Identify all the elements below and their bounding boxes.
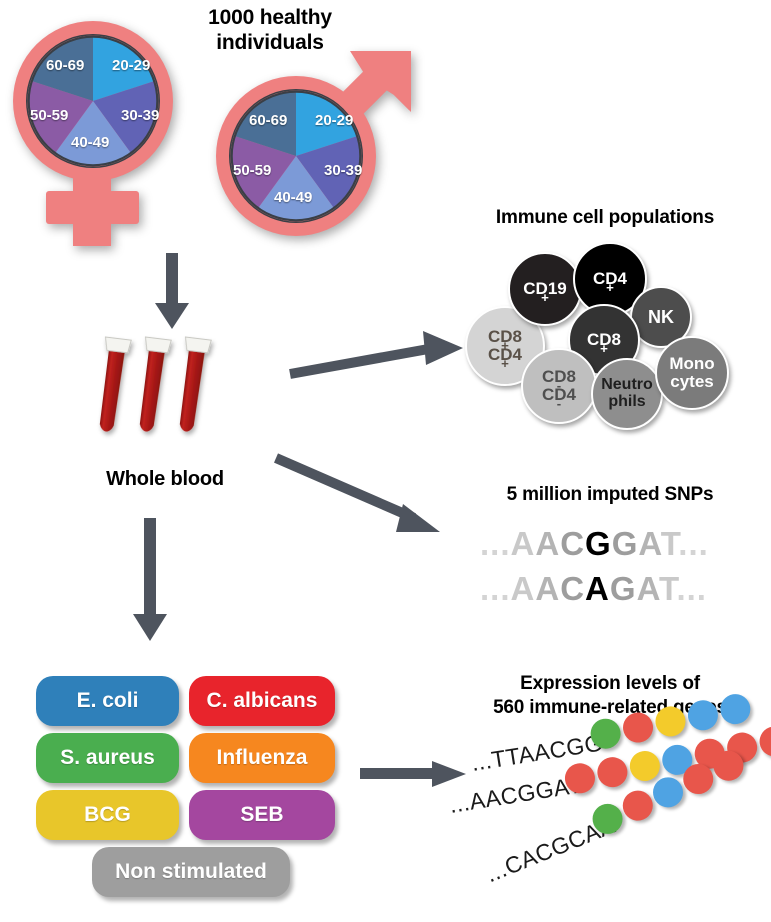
snp2-left-c: C [560, 570, 585, 607]
immune-cell-cd19pos: CD19+ [508, 252, 582, 326]
arrow-blood-to-stimulations [130, 518, 170, 643]
expression-strand-1-bead-4 [686, 698, 720, 732]
stimulation-non-stimulated[interactable]: Non stimulated [92, 847, 290, 897]
snp1-prefix: ... [480, 525, 511, 562]
snp-sequences: ...AACGGAT... ...AACAGAT... [480, 525, 740, 615]
snp2-suffix: ... [676, 570, 707, 607]
stimulation-e-coli[interactable]: E. coli [36, 676, 179, 726]
snp1-left-a: A [511, 525, 536, 562]
cd8pos-cd4pos-line2: CD4+ [488, 346, 522, 364]
neutrophils-line1: Neutro [601, 377, 653, 394]
expression-strands: ...TTAACGG ...AACGGAT ...CACGCAA [450, 730, 771, 915]
immune-cell-cluster: CD8+ CD4+ CD19+ CD4+ NK CD8+ CD8- CD4- [455, 240, 755, 420]
female-crossbar [46, 191, 139, 224]
section-title-snps: 5 million imputed SNPs [460, 484, 760, 506]
immune-cell-neutrophils: Neutro phils [591, 358, 663, 430]
label-whole-blood: Whole blood [75, 468, 255, 492]
male-pie-label-30-39: 30-39 [324, 162, 362, 179]
female-pie-label-50-59: 50-59 [30, 107, 68, 124]
neutrophils-line2: phils [601, 394, 653, 411]
whole-blood-tubes [95, 330, 275, 465]
snp-sequence-row-1: ...AACGGAT... [480, 525, 709, 563]
female-pie-label-40-49: 40-49 [71, 134, 109, 151]
stimulation-c-albicans[interactable]: C. albicans [189, 676, 335, 726]
blood-tube-2 [134, 337, 171, 433]
female-symbol: 20-29 30-39 40-49 50-59 60-69 [8, 16, 193, 246]
snp2-right-b: A [637, 570, 659, 607]
expression-strand-1-bead-5 [718, 692, 752, 726]
stimulation-bcg-label: BCG [84, 803, 131, 827]
snp2-left-a: A [511, 570, 536, 607]
stimulation-s-aureus[interactable]: S. aureus [36, 733, 179, 783]
snp-sequence-row-2: ...AACAGAT... [480, 570, 707, 608]
expression-strand-3-bead-2 [618, 786, 657, 825]
arrow-blood-to-snps [272, 432, 462, 542]
stimulation-e-coli-label: E. coli [77, 689, 139, 713]
arrow-blood-to-immune [288, 325, 468, 385]
expression-strand-2-bead-2 [595, 755, 629, 789]
stimulation-seb-label: SEB [240, 803, 283, 827]
stimulation-non-stimulated-label: Non stimulated [115, 860, 267, 884]
stimulation-influenza-label: Influenza [216, 746, 307, 770]
cd8neg-cd4neg-line2: CD4- [542, 386, 576, 404]
stimulation-s-aureus-label: S. aureus [60, 746, 155, 770]
expression-strand-1-bead-3 [653, 704, 687, 738]
female-pie-label-30-39: 30-39 [121, 107, 159, 124]
blood-tubes-svg [95, 330, 275, 465]
monocytes-line1: Mono [669, 355, 714, 373]
male-pie-label-50-59: 50-59 [233, 162, 271, 179]
diagram-canvas: 1000 healthy individuals 20-29 30-39 40-… [0, 0, 771, 922]
cd4pos-label: CD4+ [593, 270, 627, 288]
monocytes-line2: cytes [669, 373, 714, 391]
stimulation-bcg[interactable]: BCG [36, 790, 179, 840]
snp1-right-c: T [661, 525, 679, 562]
immune-cell-cd8neg-cd4neg: CD8- CD4- [521, 348, 597, 424]
male-pie-label-60-69: 60-69 [249, 112, 287, 129]
male-pie-label-20-29: 20-29 [315, 112, 353, 129]
blood-tube-3 [174, 337, 211, 433]
cd8pos-cd4pos-line1: CD8+ [488, 328, 522, 346]
cd8pos-label: CD8+ [587, 331, 621, 349]
expression-strand-3-bead-3 [648, 773, 687, 812]
blood-tube-1 [95, 337, 131, 433]
cd19pos-label: CD19+ [523, 280, 566, 298]
expression-strand-1-bead-2 [621, 710, 655, 744]
male-symbol: 20-29 30-39 40-49 50-59 60-69 [208, 38, 423, 248]
expression-strand-2-sequence: ...AACGGAT [447, 771, 584, 819]
snp1-right-a: G [612, 525, 639, 562]
snp1-left-b: A [535, 525, 560, 562]
snp2-right-c: T [659, 570, 677, 607]
stimulation-influenza[interactable]: Influenza [189, 733, 335, 783]
expression-strand-3-bead-4 [679, 760, 718, 799]
stimulation-panel: E. coli C. albicans S. aureus Influenza … [36, 676, 336, 896]
male-pie-label-40-49: 40-49 [274, 189, 312, 206]
cd8neg-cd4neg-line1: CD8- [542, 368, 576, 386]
section-title-immune-cells: Immune cell populations [455, 207, 755, 229]
snp1-left-c: C [560, 525, 585, 562]
snp2-prefix: ... [480, 570, 511, 607]
female-pie-label-60-69: 60-69 [46, 57, 84, 74]
immune-cell-monocytes: Mono cytes [655, 336, 729, 410]
snp1-right-b: A [638, 525, 660, 562]
snp1-variant: G [585, 525, 612, 562]
female-pie-label-20-29: 20-29 [112, 57, 150, 74]
expression-title-line1: Expression levels of [455, 672, 765, 696]
stimulation-c-albicans-label: C. albicans [207, 689, 318, 713]
cohort-title-line1: 1000 healthy [175, 6, 365, 31]
snp2-variant: A [585, 570, 610, 607]
arrow-cohort-to-blood [152, 253, 192, 331]
snp2-left-b: A [535, 570, 560, 607]
stimulation-seb[interactable]: SEB [189, 790, 335, 840]
nk-label: NK [648, 308, 674, 327]
snp1-suffix: ... [678, 525, 709, 562]
snp2-right-a: G [610, 570, 637, 607]
